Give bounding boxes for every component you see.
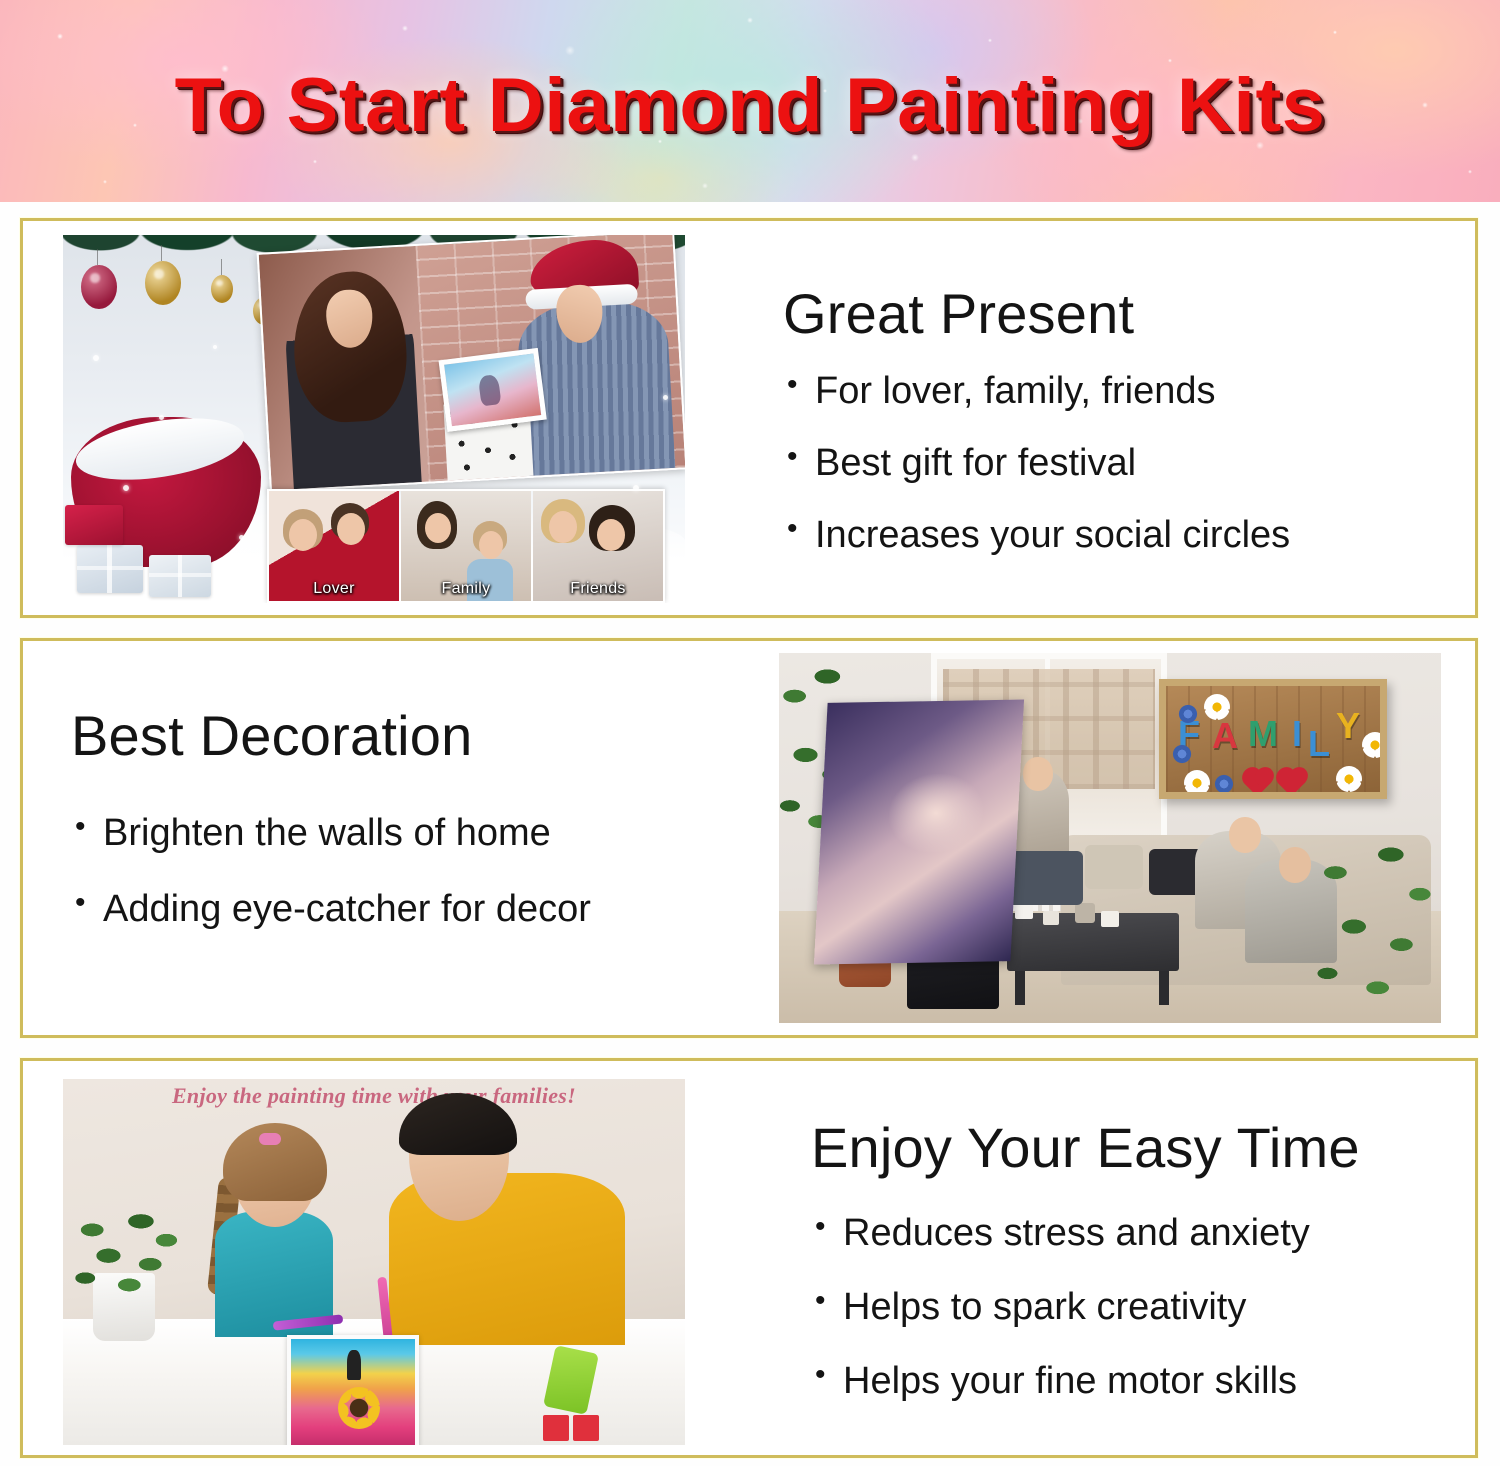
cornflower-icon	[1178, 704, 1198, 724]
diamond-painting-sunflower-canvas	[287, 1335, 419, 1445]
face	[597, 519, 625, 551]
daisy-flower-icon	[1184, 770, 1210, 796]
figure-silhouette	[347, 1350, 361, 1380]
snowflake-decoration	[239, 535, 244, 540]
daisy-flower-icon	[1362, 732, 1387, 758]
cup	[1043, 911, 1059, 925]
potted-plant	[1309, 833, 1441, 1013]
wall-art-letter-M: M	[1248, 716, 1278, 752]
bullet-item: Reduces stress and anxiety	[811, 1214, 1360, 1252]
face	[1023, 757, 1053, 791]
snowflake-decoration	[93, 355, 99, 361]
page-title: To Start Diamond Painting Kits	[0, 62, 1500, 149]
panel-best-decoration: Best Decoration Brighten the walls of ho…	[20, 638, 1478, 1038]
face	[425, 513, 451, 543]
header-banner: To Start Diamond Painting Kits	[0, 0, 1500, 202]
face	[479, 531, 503, 559]
daisy-flower-icon	[1336, 766, 1362, 792]
snowflake-decoration	[663, 395, 668, 400]
bullet-list-great-present: For lover, family, friends Best gift for…	[783, 372, 1290, 554]
product-infographic: To Start Diamond Painting Kits	[0, 0, 1500, 1466]
bullet-item: Increases your social circles	[783, 516, 1290, 554]
bullet-item: Brighten the walls of home	[71, 814, 591, 852]
heart-icon	[1245, 770, 1272, 797]
snowflake-decoration	[633, 485, 639, 491]
panel-enjoy-your-easy-time: Enjoy the painting time with your famili…	[20, 1058, 1478, 1458]
ornament-icon	[81, 265, 117, 309]
teapot	[1075, 903, 1095, 923]
face	[1229, 817, 1261, 853]
daisy-flower-icon	[1204, 694, 1230, 720]
face	[289, 519, 317, 551]
bullet-item: Helps to spark creativity	[811, 1288, 1360, 1326]
strip-label-friends: Friends	[533, 580, 663, 598]
text-block-enjoy-your-easy-time: Enjoy Your Easy Time Reduces stress and …	[811, 1115, 1360, 1434]
strip-cell-friends: Friends	[533, 491, 663, 601]
family-wall-art: F A M I L Y	[1159, 679, 1387, 799]
bullet-item: Adding eye-catcher for decor	[71, 890, 591, 928]
wall-art-letter-Y: Y	[1336, 708, 1360, 744]
diamond-drill-packet	[573, 1415, 599, 1441]
gift-box	[65, 505, 123, 545]
panel-heading-best-decoration: Best Decoration	[71, 703, 591, 768]
living-room-decoration-image: F A M I L Y	[779, 653, 1441, 1023]
bullet-list-best-decoration: Brighten the walls of home Adding eye-ca…	[71, 814, 591, 928]
snowflake-decoration	[213, 345, 217, 349]
bullet-item: Helps your fine motor skills	[811, 1362, 1360, 1400]
bullet-item: For lover, family, friends	[783, 372, 1290, 410]
face	[1279, 847, 1311, 883]
panel-heading-enjoy-your-easy-time: Enjoy Your Easy Time	[811, 1115, 1360, 1180]
diamond-painting-canvas	[439, 348, 547, 432]
image-caption: Enjoy the painting time with your famili…	[63, 1083, 685, 1109]
cornflower-icon	[1172, 744, 1192, 764]
christmas-gift-collage-image: Lover Family Friends	[63, 235, 685, 603]
hair-clip-icon	[259, 1133, 281, 1145]
father-daughter-painting-image: Enjoy the painting time with your famili…	[63, 1079, 685, 1445]
ornament-icon	[145, 261, 181, 305]
text-block-great-present: Great Present For lover, family, friends…	[783, 281, 1290, 588]
snowflake-decoration	[123, 485, 129, 491]
legs	[1005, 851, 1083, 905]
strip-cell-family: Family	[401, 491, 531, 601]
strip-label-family: Family	[401, 580, 531, 598]
panel-heading-great-present: Great Present	[783, 281, 1290, 346]
diamond-drill-packet	[543, 1415, 569, 1441]
bullet-item: Best gift for festival	[783, 444, 1290, 482]
cornflower-icon	[1214, 774, 1234, 794]
wall-art-letter-I: I	[1292, 716, 1302, 752]
gift-box	[149, 555, 211, 597]
wall-art-letter-A: A	[1212, 718, 1238, 754]
wall-art-letter-L: L	[1308, 726, 1330, 762]
face	[549, 511, 577, 543]
snowflake-decoration	[159, 415, 164, 420]
cup	[1015, 904, 1033, 919]
hand-holding-diamond-closeup-overlay	[814, 699, 1024, 964]
cup	[1101, 911, 1119, 927]
strip-cell-lover: Lover	[269, 491, 399, 601]
bullet-list-enjoy-your-easy-time: Reduces stress and anxiety Helps to spar…	[811, 1214, 1360, 1400]
heart-icon	[1279, 770, 1306, 797]
cushion	[1085, 845, 1143, 889]
strip-label-lover: Lover	[269, 580, 399, 598]
face	[337, 513, 365, 545]
ornament-icon	[211, 275, 233, 303]
gift-box	[77, 545, 143, 593]
potted-plant	[69, 1211, 185, 1297]
text-block-best-decoration: Best Decoration Brighten the walls of ho…	[71, 703, 591, 962]
gift-exchange-photo	[257, 235, 685, 492]
sunflower-motif	[338, 1387, 380, 1429]
panel-great-present: Lover Family Friends	[20, 218, 1478, 618]
relationship-photo-strip: Lover Family Friends	[267, 489, 665, 603]
